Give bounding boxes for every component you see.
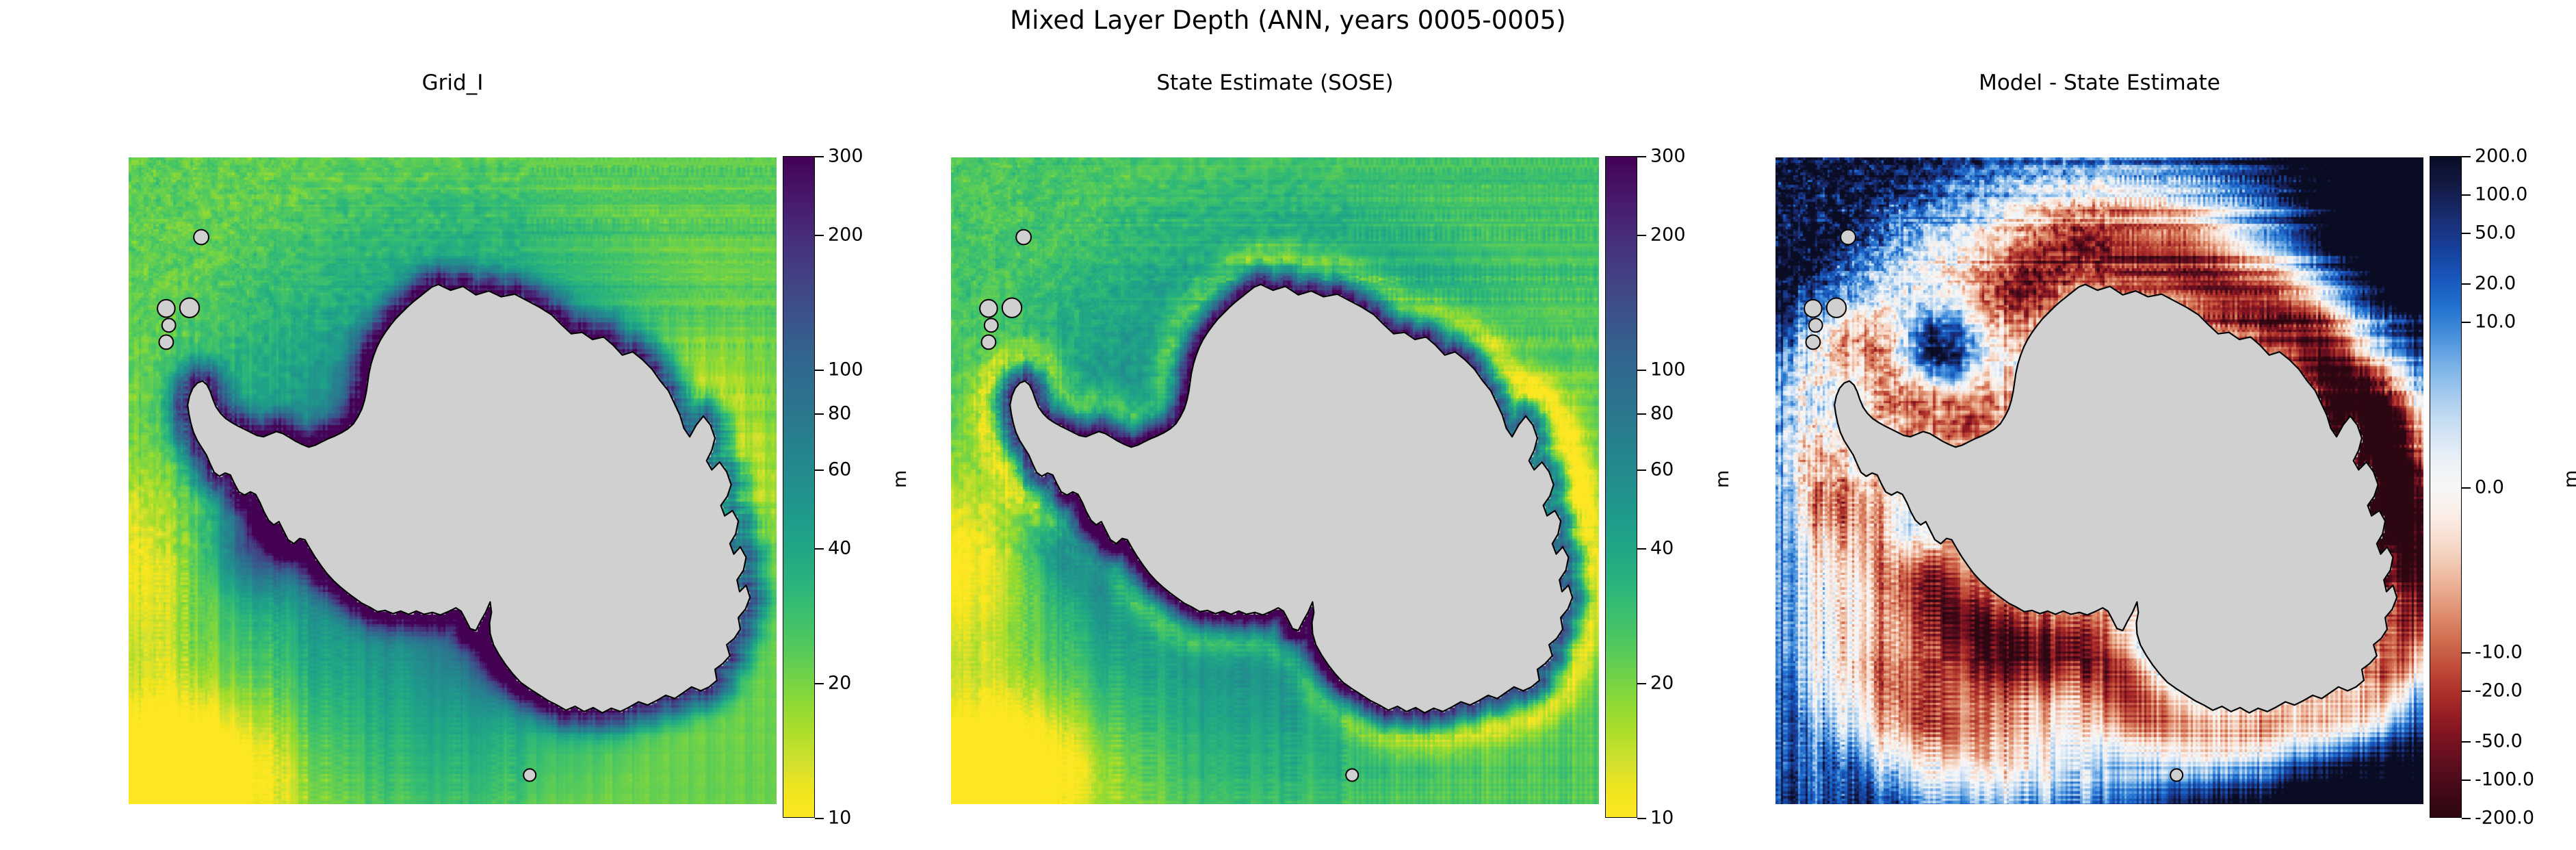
colorbar-grid-i[interactable]: 3002001008060402010 [783, 156, 815, 818]
colorbar-tick [815, 818, 824, 819]
island-6 [1346, 769, 1358, 782]
colorbar-tick-label: 100 [1650, 359, 1686, 381]
colorbar-tick [2462, 652, 2471, 654]
island-4 [162, 318, 176, 332]
colorbar-tick [1637, 156, 1646, 157]
colorbar-tick [2462, 322, 2471, 323]
colorbar-tick [815, 469, 824, 471]
colorbar-tick-label: 300 [828, 146, 863, 167]
figure-canvas: Mixed Layer Depth (ANN, years 0005-0005)… [0, 0, 2576, 850]
coastline-overlay [1775, 157, 2423, 804]
island-1 [194, 230, 209, 245]
colorbar-tick [815, 683, 824, 684]
antarctica-landmass [1010, 285, 1572, 713]
colorbar-tick-label: 20 [828, 672, 851, 693]
colorbar-tick [1637, 548, 1646, 550]
colorbar-tick-label: -20.0 [2475, 680, 2523, 701]
colorbar-unit-difference: m [2560, 470, 2576, 488]
colorbar-tick-label: -50.0 [2475, 731, 2523, 752]
colorbar-tick-label: 100.0 [2475, 183, 2527, 205]
colorbar-tick [1637, 370, 1646, 371]
colorbar-tick [2462, 156, 2471, 157]
panel-title-sose: State Estimate (SOSE) [951, 70, 1599, 95]
colorbar-tick-label: 60 [828, 459, 851, 480]
colorbar-tick [2462, 283, 2471, 285]
island-6 [2170, 769, 2183, 782]
colorbar-tick [2462, 741, 2471, 743]
colorbar-tick-label: 50.0 [2475, 222, 2516, 243]
colorbar-tick [815, 413, 824, 415]
colorbar-tick [2462, 233, 2471, 234]
colorbar-tick-label: 80 [828, 402, 851, 424]
colorbar-tick-label: 40 [828, 537, 851, 558]
colorbar-tick-label: 10 [828, 808, 851, 829]
island-2 [1804, 300, 1822, 318]
island-1 [1840, 230, 1856, 245]
colorbar-tick [2462, 780, 2471, 781]
colorbar-unit-grid-i: m [889, 470, 911, 488]
colorbar-tick-label: 100 [828, 359, 863, 381]
colorbar-tick [1637, 235, 1646, 236]
colorbar-tick [815, 548, 824, 550]
map-difference[interactable] [1775, 157, 2423, 804]
colorbar-tick-label: 200 [828, 224, 863, 246]
colorbar-tick-label: 200.0 [2475, 146, 2527, 167]
island-6 [523, 769, 536, 782]
island-2 [980, 300, 998, 318]
colorbar-tick-label: 200 [1650, 224, 1686, 246]
island-3 [1002, 298, 1022, 318]
coastline-overlay [951, 157, 1599, 804]
colorbar-tick-label: 300 [1650, 146, 1686, 167]
colorbar-tick-label: 80 [1650, 402, 1674, 424]
colorbar-tick-label: 40 [1650, 537, 1674, 558]
colorbar-frame [2430, 156, 2462, 818]
colorbar-tick [2462, 194, 2471, 196]
colorbar-unit-sose: m [1712, 470, 1733, 488]
colorbar-tick-label: 20 [1650, 672, 1674, 693]
island-5 [159, 335, 174, 350]
colorbar-frame [783, 156, 815, 818]
island-1 [1016, 230, 1031, 245]
colorbar-tick-label: -10.0 [2475, 642, 2523, 663]
colorbar-tick [1637, 469, 1646, 471]
colorbar-tick [815, 370, 824, 371]
colorbar-tick [1637, 683, 1646, 684]
colorbar-tick-label: 10.0 [2475, 311, 2516, 332]
island-4 [985, 318, 998, 332]
colorbar-tick-label: -100.0 [2475, 769, 2534, 790]
colorbar-frame [1605, 156, 1637, 818]
colorbar-tick [2462, 691, 2471, 692]
colorbar-tick [2462, 818, 2471, 819]
colorbar-tick [1637, 818, 1646, 819]
island-2 [157, 300, 175, 318]
island-5 [982, 335, 996, 350]
colorbar-tick-label: 0.0 [2475, 476, 2504, 498]
colorbar-tick [1637, 413, 1646, 415]
island-3 [180, 298, 199, 318]
figure-title: Mixed Layer Depth (ANN, years 0005-0005) [0, 5, 2576, 35]
map-grid-i[interactable] [129, 157, 777, 804]
panel-title-grid-i: Grid_I [129, 70, 777, 95]
antarctica-landmass [1834, 285, 2397, 713]
map-sose[interactable] [951, 157, 1599, 804]
colorbar-tick-label: 10 [1650, 808, 1674, 829]
colorbar-tick-label: 20.0 [2475, 272, 2516, 294]
colorbar-tick-label: -200.0 [2475, 808, 2534, 829]
colorbar-tick [815, 235, 824, 236]
island-5 [1806, 335, 1821, 350]
colorbar-tick [2462, 487, 2471, 489]
panel-title-difference: Model - State Estimate [1775, 70, 2423, 95]
colorbar-difference[interactable]: 200.0100.050.020.010.00.0-10.0-20.0-50.0… [2430, 156, 2462, 818]
island-3 [1827, 298, 1846, 318]
colorbar-tick-label: 60 [1650, 459, 1674, 480]
island-4 [1809, 318, 1823, 332]
colorbar-tick [815, 156, 824, 157]
antarctica-landmass [187, 285, 750, 713]
colorbar-sose[interactable]: 3002001008060402010 [1605, 156, 1637, 818]
coastline-overlay [129, 157, 777, 804]
